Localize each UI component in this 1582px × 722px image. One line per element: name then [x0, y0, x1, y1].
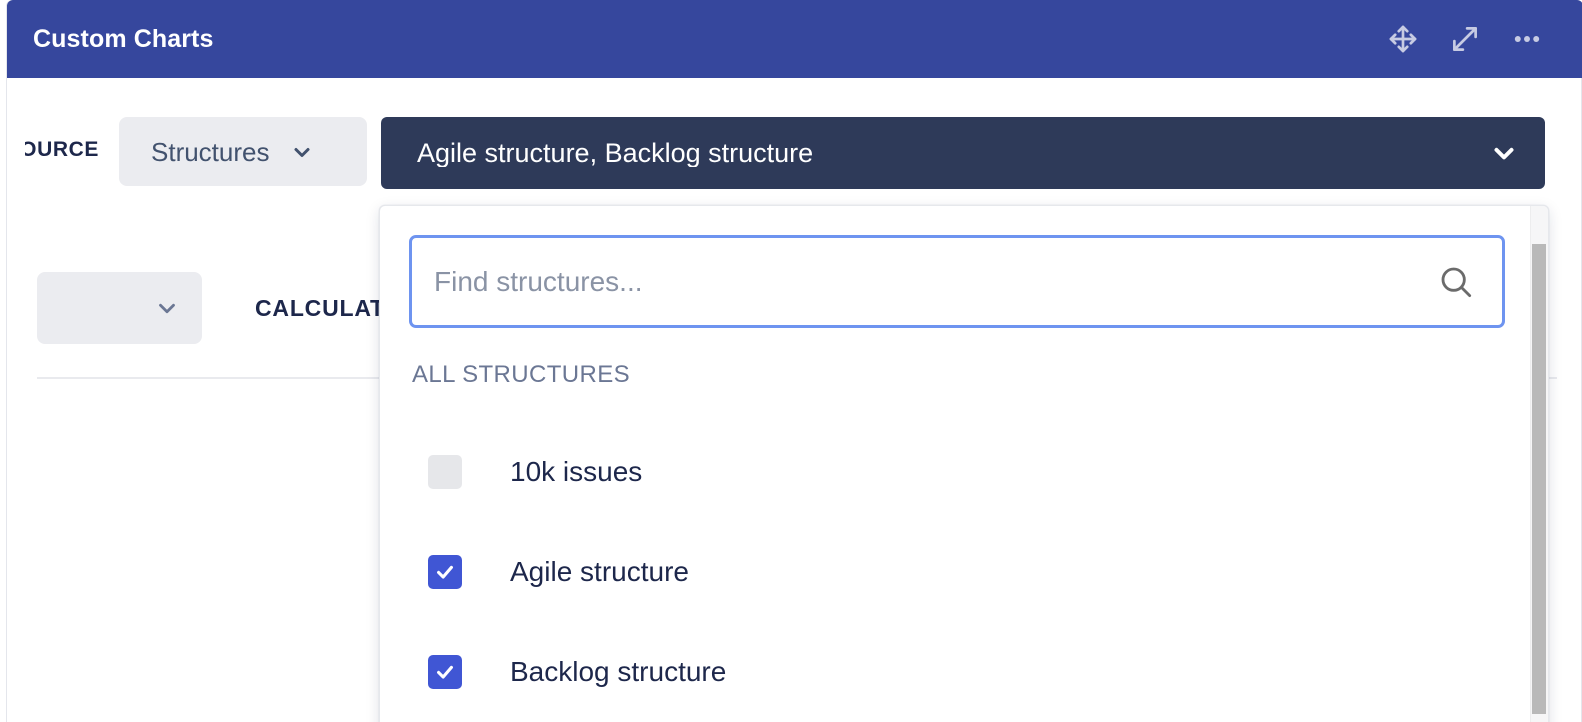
group-header-all-structures: ALL STRUCTURES [412, 361, 630, 389]
search-field-wrapper[interactable] [409, 235, 1505, 328]
structures-option-list: 10k issues Agile structure [380, 422, 1520, 722]
list-item-label: Backlog structure [510, 658, 726, 686]
chevron-down-icon [290, 140, 314, 164]
move-icon[interactable] [1385, 21, 1421, 57]
list-item[interactable]: Backlog structure [380, 622, 1520, 722]
secondary-select[interactable] [37, 272, 202, 344]
custom-charts-gadget: Custom Charts [0, 0, 1582, 722]
dropdown-scrollbar-track[interactable] [1530, 206, 1548, 722]
structures-selected-value: Agile structure, Backlog structure [417, 140, 813, 167]
gadget-card: Custom Charts [6, 0, 1582, 722]
list-item-label: Agile structure [510, 558, 689, 586]
page-title: Custom Charts [33, 27, 214, 52]
gadget-title-bar: Custom Charts [7, 0, 1582, 78]
source-label: SOURCE [25, 138, 99, 162]
search-icon[interactable] [1436, 262, 1476, 302]
list-item-label: 10k issues [510, 458, 642, 486]
source-type-select[interactable]: Structures [119, 117, 367, 186]
chevron-down-icon [154, 295, 180, 321]
structures-value-bar[interactable]: Agile structure, Backlog structure [381, 117, 1545, 189]
list-item[interactable]: Agile structure [380, 522, 1520, 622]
title-bar-actions [1385, 21, 1559, 57]
dropdown-scrollbar-thumb[interactable] [1532, 244, 1546, 714]
expand-icon[interactable] [1447, 21, 1483, 57]
checkbox-backlog-structure[interactable] [428, 655, 462, 689]
checkbox-10k-issues[interactable] [428, 455, 462, 489]
chevron-down-icon [1473, 138, 1519, 168]
structures-dropdown-panel: ALL STRUCTURES 10k issues [379, 205, 1549, 722]
checkbox-agile-structure[interactable] [428, 555, 462, 589]
list-item[interactable]: 10k issues [380, 422, 1520, 522]
source-type-value: Structures [151, 139, 270, 165]
search-input[interactable] [434, 252, 1424, 312]
more-options-icon[interactable] [1509, 21, 1545, 57]
